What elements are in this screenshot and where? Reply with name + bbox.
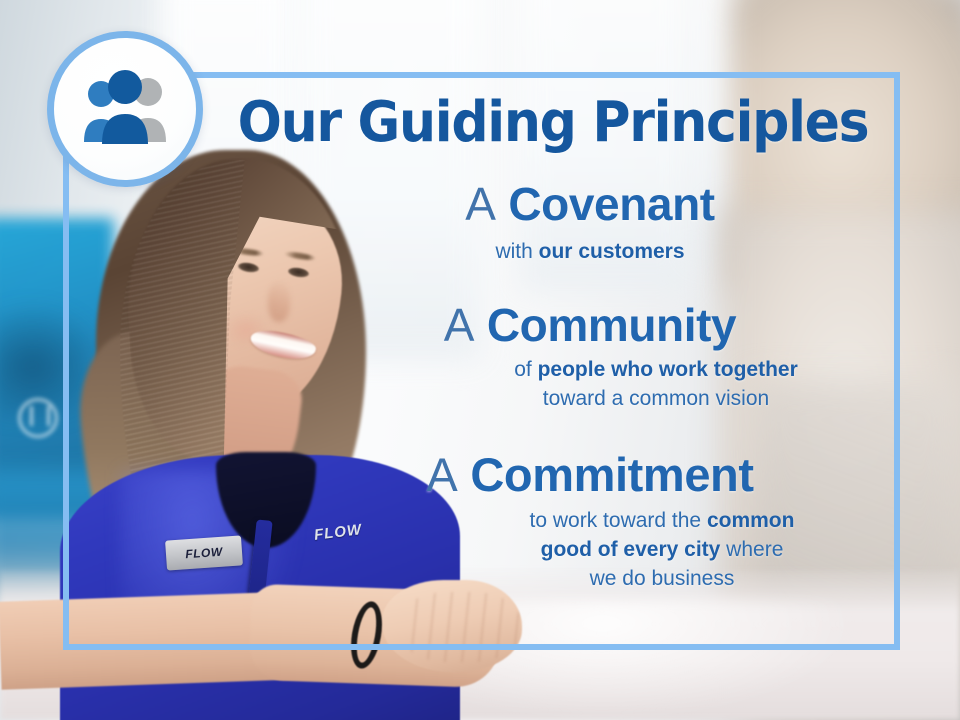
subtext-regular: to work toward the [530,509,707,532]
subtext-regular: of [514,358,537,381]
principle-lead: A [465,178,496,230]
principle-lead: A [444,299,475,351]
principles-list: A Covenant with our customers A Communit… [300,180,880,596]
principle-commitment: A Commitment to work toward the common g… [300,450,880,594]
principle-heading: A Community [300,301,880,351]
subtext-regular: with [495,240,538,263]
principle-word: Community [487,299,736,351]
subtext-regular-2: where [720,538,783,561]
principle-covenant: A Covenant with our customers [300,180,880,267]
guiding-principles-banner: FLOW FLOW Our Guiding Principles [0,0,960,720]
principle-subtext: of people who work together toward a com… [446,356,866,414]
principle-word: Commitment [470,448,753,501]
people-group-icon [71,70,179,148]
principle-community: A Community of people who work together … [300,301,880,415]
principle-subtext: with our customers [300,238,880,267]
fingers [400,592,520,662]
principle-word: Covenant [508,178,714,230]
nose [268,282,290,322]
name-badge: FLOW [165,535,243,570]
principle-heading: A Covenant [300,180,880,230]
subtext-bold: our customers [539,240,685,263]
people-badge [47,31,203,187]
subtext-regular-3: we do business [590,567,735,590]
name-badge-text: FLOW [185,545,223,562]
subtext-bold: people who work together [538,358,798,381]
subtext-bold-2: good of every city [541,538,721,561]
principle-heading: A Commitment [300,450,880,501]
principle-subtext: to work toward the common good of every … [452,507,872,594]
principle-lead: A [426,448,457,501]
page-title: Our Guiding Principles [237,95,869,151]
subtext-bold: common [707,509,795,532]
subtext-regular-2: toward a common vision [543,387,769,410]
